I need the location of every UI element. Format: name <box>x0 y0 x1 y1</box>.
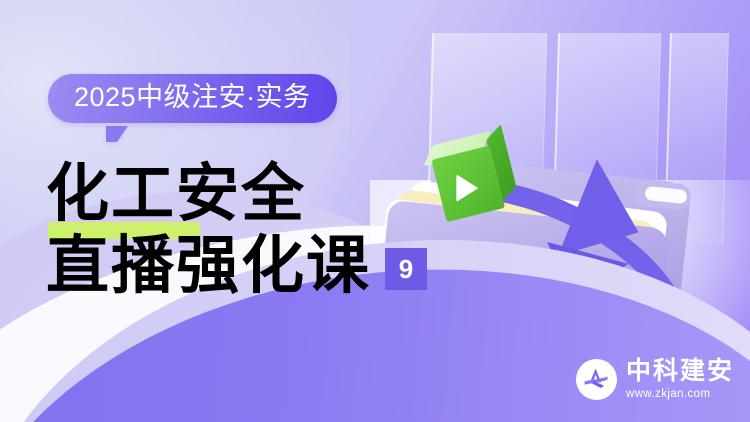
page-title-row2: 直播强化课 9 <box>46 230 427 302</box>
episode-number-badge: 9 <box>385 248 427 290</box>
play-triangle-icon <box>456 174 478 202</box>
title-block: 化工安全 直播强化课 9 <box>46 158 427 302</box>
course-badge: 2025中级注安·实务 <box>48 74 337 123</box>
course-poster: 2025中级注安·实务 化工安全 直播强化课 9 中科建安 www.zkjan.… <box>0 0 750 422</box>
brand-logo: 中科建安 www.zkjan.com <box>576 359 734 401</box>
brand-url: www.zkjan.com <box>626 389 734 401</box>
course-badge-label: 2025中级注安·实务 <box>48 74 337 123</box>
page-title-line2: 直播强化课 <box>46 230 371 302</box>
speech-bubble-tail-icon <box>106 126 128 142</box>
page-title-line1: 化工安全 <box>46 158 427 230</box>
brand-name: 中科建安 <box>626 359 734 384</box>
zkjan-mountain-icon <box>576 359 617 400</box>
brand-logo-text: 中科建安 www.zkjan.com <box>626 359 734 401</box>
